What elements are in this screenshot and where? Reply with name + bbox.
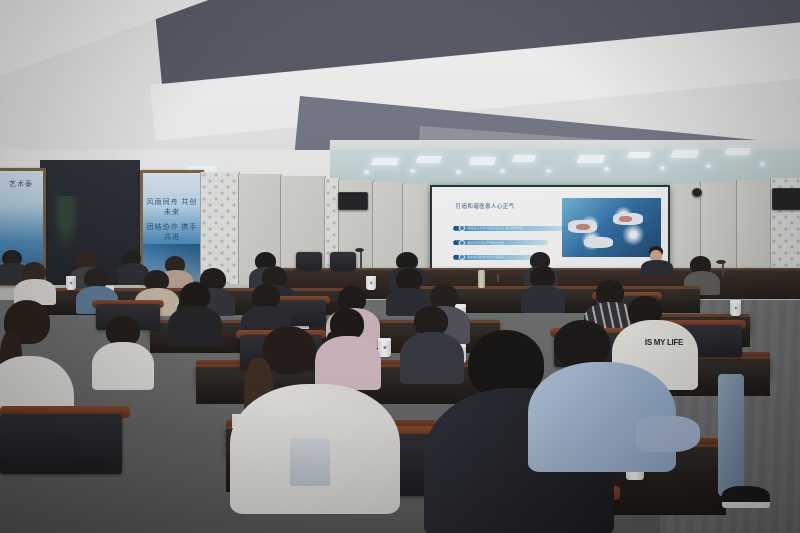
water-bottle bbox=[478, 270, 485, 288]
person-hair bbox=[554, 320, 610, 368]
bullet-square-icon bbox=[454, 241, 458, 245]
chair-backrest bbox=[330, 252, 356, 270]
plant-silhouette bbox=[52, 196, 80, 252]
person-body-pink bbox=[315, 336, 381, 390]
ceiling-panel-light bbox=[725, 148, 751, 155]
bullet-square-icon bbox=[454, 255, 458, 259]
cup-logo bbox=[733, 306, 738, 310]
projector-screen-frame: 打造和谐医患人心正气 加强医患沟通 构建和谐关系 提升服务质量 规范诊疗行为 严… bbox=[430, 185, 670, 275]
ceiling-panel-light bbox=[416, 156, 442, 163]
sneaker-sole bbox=[722, 502, 770, 508]
microphone-head bbox=[716, 260, 726, 264]
projector-screen: 打造和谐医患人心正气 加强医患沟通 构建和谐关系 提升服务质量 规范诊疗行为 严… bbox=[432, 187, 668, 273]
presenter-body bbox=[641, 260, 673, 276]
bullet-square-icon bbox=[454, 226, 458, 230]
cup-logo bbox=[69, 281, 74, 285]
ceiling-downlight bbox=[410, 169, 415, 173]
ceiling-panel-light bbox=[469, 157, 497, 165]
ceiling-panel-light bbox=[512, 155, 536, 162]
ceiling-panel-light bbox=[371, 158, 399, 165]
person-presenter bbox=[640, 246, 674, 276]
chair-backrest bbox=[0, 414, 122, 474]
ceiling-downlight bbox=[546, 169, 551, 173]
bullet-circle-icon bbox=[459, 225, 465, 231]
ceiling-downlight bbox=[660, 166, 665, 170]
paper-cup bbox=[730, 300, 741, 316]
poster-calligraphy-text: 艺术泰 bbox=[0, 179, 43, 189]
ceiling-panel-light bbox=[671, 150, 700, 158]
slide-bullet-text: 强化责任担当 树立行业新风 bbox=[467, 255, 504, 259]
slide-bullet-row: 加强医患沟通 构建和谐关系 提升服务质量 bbox=[453, 226, 566, 231]
slide-photo-sleeve bbox=[584, 237, 614, 249]
slide-bullet-text: 规范诊疗行为 严守职业道德 bbox=[467, 241, 504, 245]
ceiling-downlight bbox=[364, 170, 369, 174]
poster-calligraphy-line-1: 风雨同舟 共创未来 bbox=[143, 197, 201, 217]
ceiling-downlight bbox=[604, 167, 609, 171]
paper-cup bbox=[366, 276, 376, 290]
ceiling-downlight bbox=[760, 162, 765, 166]
ceiling-downlight bbox=[706, 164, 711, 168]
wall-monitor-right bbox=[772, 188, 800, 210]
hoodie-slogan-text: IS MY LIFE bbox=[640, 338, 688, 347]
chair-backrest bbox=[296, 252, 322, 270]
wall-decor-panel bbox=[200, 172, 240, 284]
wall-camera-right bbox=[692, 188, 702, 197]
person-arm-blue bbox=[636, 416, 700, 452]
ceiling-panel-light bbox=[627, 152, 651, 158]
person-body bbox=[521, 285, 565, 313]
person-body bbox=[168, 306, 222, 346]
slide-photo-hand bbox=[619, 216, 632, 222]
person-hair-bun bbox=[262, 326, 316, 374]
microphone-stand bbox=[360, 250, 362, 270]
bullet-circle-icon bbox=[459, 254, 465, 260]
cup-logo bbox=[369, 281, 374, 285]
wall-speaker-left bbox=[338, 192, 368, 210]
paper-cup bbox=[66, 276, 76, 290]
slide-title: 打造和谐医患人心正气 bbox=[456, 202, 515, 210]
conference-room-photo: 艺术泰 风雨同舟 共创未来 团结协作 携手共进 打造和谐医患人心正气 加强医患沟… bbox=[0, 0, 800, 533]
ceiling-panel-light bbox=[577, 155, 606, 163]
slide-photo-hand bbox=[576, 224, 590, 230]
ceiling-downlight bbox=[456, 170, 461, 174]
ceiling-downlight bbox=[500, 169, 505, 173]
person-body bbox=[400, 332, 464, 384]
slide-bullet-text: 加强医患沟通 构建和谐关系 提升服务质量 bbox=[467, 226, 523, 230]
person-jeans-leg bbox=[718, 374, 744, 496]
bullet-circle-icon bbox=[459, 240, 465, 246]
person-body bbox=[92, 342, 154, 390]
slide-bullet-row: 规范诊疗行为 严守职业道德 bbox=[453, 240, 547, 245]
coat-print-graphic bbox=[290, 438, 330, 486]
microphone-head bbox=[492, 270, 501, 274]
slide-bullet-row: 强化责任担当 树立行业新风 bbox=[453, 255, 538, 260]
microphone-head bbox=[355, 248, 364, 252]
poster-calligraphy-line-2: 团结协作 携手共进 bbox=[143, 222, 201, 242]
microphone-stand bbox=[722, 262, 724, 276]
cup-logo bbox=[381, 345, 387, 350]
